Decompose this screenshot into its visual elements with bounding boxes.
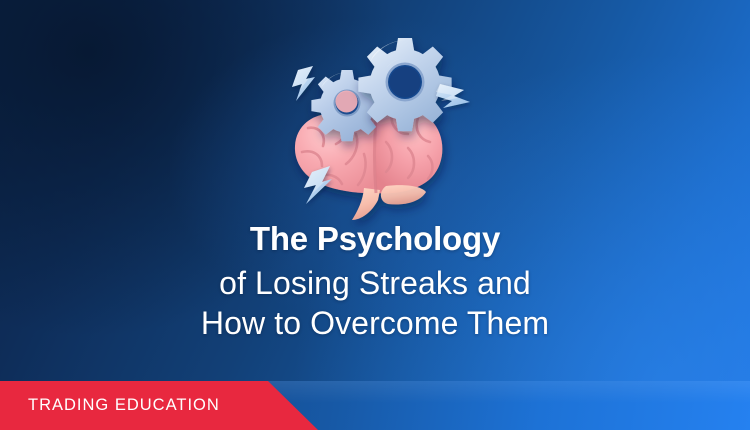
brain-with-gears-illustration: [268, 22, 483, 212]
lightning-bolt-left-icon: [292, 66, 315, 101]
headline-line-2: of Losing Streaks and: [0, 267, 750, 307]
lightning-bolt-right-icon: [436, 84, 470, 108]
headline-line-3: How to Overcome Them: [0, 307, 750, 339]
headline: The Psychology of Losing Streaks and How…: [0, 222, 750, 339]
headline-line-1: The Psychology: [0, 222, 750, 267]
trading-education-banner: The Psychology of Losing Streaks and How…: [0, 0, 750, 430]
large-gear-icon: [358, 38, 451, 131]
category-tag-label: TRADING EDUCATION: [28, 381, 220, 430]
